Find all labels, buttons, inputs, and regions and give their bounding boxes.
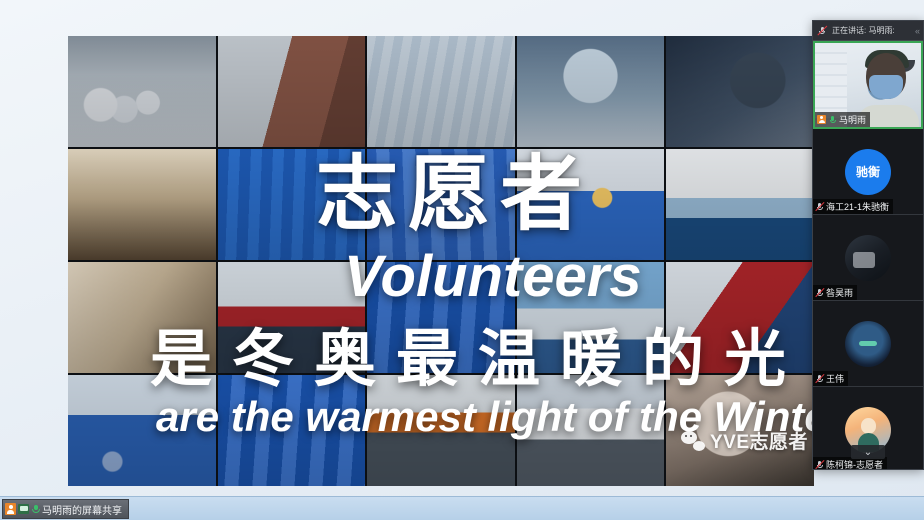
- mic-on-icon: [31, 504, 40, 515]
- collage-cell: [367, 36, 515, 147]
- participant-name-badge: 王伟: [813, 371, 848, 386]
- collage-cell: [367, 375, 515, 486]
- collage-cell: [666, 149, 814, 260]
- participant-name: 陈柯锦-志愿者: [826, 458, 883, 470]
- participant-name-badge: 马明雨: [815, 112, 870, 127]
- participant-tile[interactable]: 马明雨: [813, 41, 923, 129]
- double-chevron-icon[interactable]: «: [915, 26, 919, 36]
- desktop-root: 志愿者 Volunteers 是冬奥最温暖的光 are the warmest …: [0, 0, 924, 520]
- host-badge-icon: [5, 503, 16, 515]
- participant-name: 昝昊雨: [826, 286, 853, 299]
- participant-tile[interactable]: 王伟: [813, 301, 923, 387]
- participant-name: 马明雨: [839, 113, 866, 126]
- collage-cell: [517, 149, 665, 260]
- mic-muted-icon: [815, 202, 824, 211]
- avatar: [845, 235, 891, 281]
- collage-cell: [218, 149, 366, 260]
- collage-cell: [367, 262, 515, 373]
- photo-collage: [68, 36, 814, 486]
- taskbar-item-label: 马明雨的屏幕共享: [42, 502, 122, 517]
- mic-muted-icon: [815, 374, 824, 383]
- collage-cell: [367, 149, 515, 260]
- avatar: [845, 321, 891, 367]
- collage-cell: [666, 36, 814, 147]
- collage-cell: [68, 375, 216, 486]
- screen-share-icon: [18, 504, 29, 514]
- mic-muted-icon: [815, 288, 824, 297]
- active-speaker-label: 正在讲话: 马明雨:: [832, 25, 910, 36]
- collage-cell: [666, 375, 814, 486]
- avatar: 驰衡: [845, 149, 891, 195]
- participant-tile[interactable]: 驰衡 海工21-1朱驰衡: [813, 129, 923, 215]
- mic-muted-icon: [815, 460, 824, 469]
- shared-screen-stage[interactable]: 志愿者 Volunteers 是冬奥最温暖的光 are the warmest …: [68, 36, 814, 486]
- participant-name-badge: 海工21-1朱驰衡: [813, 199, 893, 214]
- participant-tile[interactable]: 昝昊雨: [813, 215, 923, 301]
- participant-name-badge: 昝昊雨: [813, 285, 857, 300]
- taskbar[interactable]: 马明雨的屏幕共享: [0, 496, 924, 520]
- collage-cell: [517, 262, 665, 373]
- panel-titlebar[interactable]: 正在讲话: 马明雨: «: [813, 21, 923, 41]
- collage-cell: [517, 36, 665, 147]
- taskbar-item-screen-share[interactable]: 马明雨的屏幕共享: [2, 499, 129, 519]
- host-badge-icon: [817, 115, 826, 124]
- participant-video-panel[interactable]: 正在讲话: 马明雨: « 马明雨 驰衡: [812, 20, 924, 470]
- collage-cell: [68, 149, 216, 260]
- collage-cell: [666, 262, 814, 373]
- collage-cell: [68, 262, 216, 373]
- collage-cell: [68, 36, 216, 147]
- chevron-down-icon[interactable]: ⌄: [851, 445, 885, 459]
- mic-on-icon: [828, 115, 837, 124]
- mic-muted-icon: [817, 26, 827, 36]
- participant-name: 王伟: [826, 372, 844, 385]
- collage-cell: [517, 375, 665, 486]
- participant-name: 海工21-1朱驰衡: [826, 200, 889, 213]
- collage-cell: [218, 375, 366, 486]
- collage-cell: [218, 262, 366, 373]
- collage-cell: [218, 36, 366, 147]
